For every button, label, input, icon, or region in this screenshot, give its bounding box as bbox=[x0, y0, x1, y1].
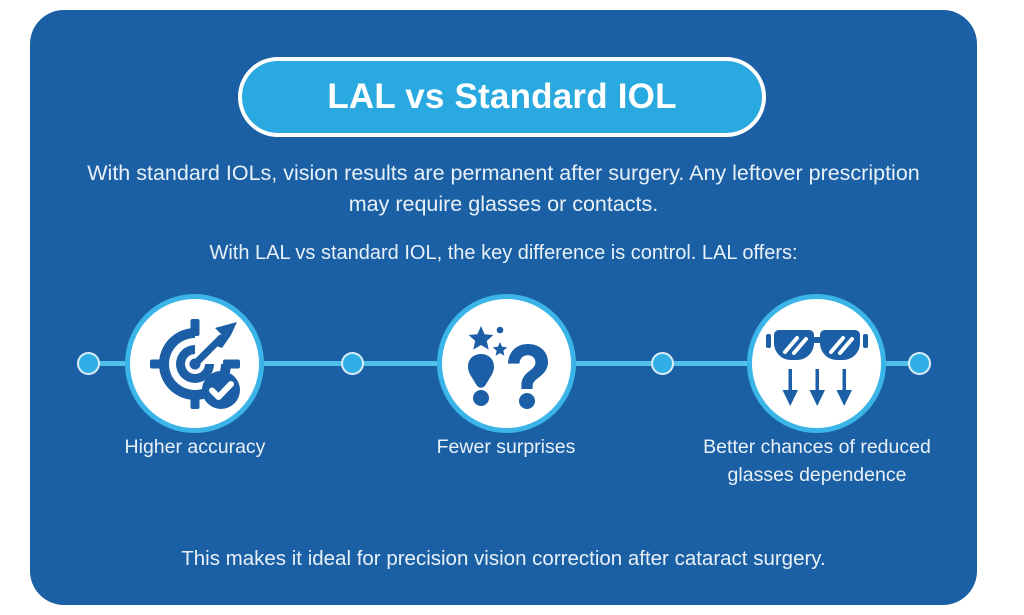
title-pill: LAL vs Standard IOL bbox=[238, 57, 766, 137]
target-arrow-check-icon bbox=[145, 314, 245, 414]
step-icon-circle-1 bbox=[125, 294, 264, 433]
eyeglasses-down-arrows-icon bbox=[765, 316, 869, 412]
step-label-reduced-glasses-dependence: Better chances of reduced glasses depend… bbox=[702, 433, 932, 489]
timeline-node bbox=[341, 352, 364, 375]
footer-text: This makes it ideal for precision vision… bbox=[70, 544, 937, 574]
step-label-higher-accuracy: Higher accuracy bbox=[80, 433, 310, 461]
step-icon-circle-3 bbox=[747, 294, 886, 433]
timeline bbox=[30, 278, 977, 458]
timeline-node bbox=[651, 352, 674, 375]
exclamation-question-sparkle-icon bbox=[459, 316, 555, 412]
timeline-node bbox=[908, 352, 931, 375]
intro-paragraph-1: With standard IOLs, vision results are p… bbox=[70, 158, 937, 220]
timeline-node bbox=[77, 352, 100, 375]
step-icon-circle-2 bbox=[437, 294, 576, 433]
page-title: LAL vs Standard IOL bbox=[327, 77, 676, 117]
step-label-fewer-surprises: Fewer surprises bbox=[391, 433, 621, 461]
infographic-card: LAL vs Standard IOL With standard IOLs, … bbox=[30, 10, 977, 605]
intro-paragraph-2: With LAL vs standard IOL, the key differ… bbox=[70, 238, 937, 268]
